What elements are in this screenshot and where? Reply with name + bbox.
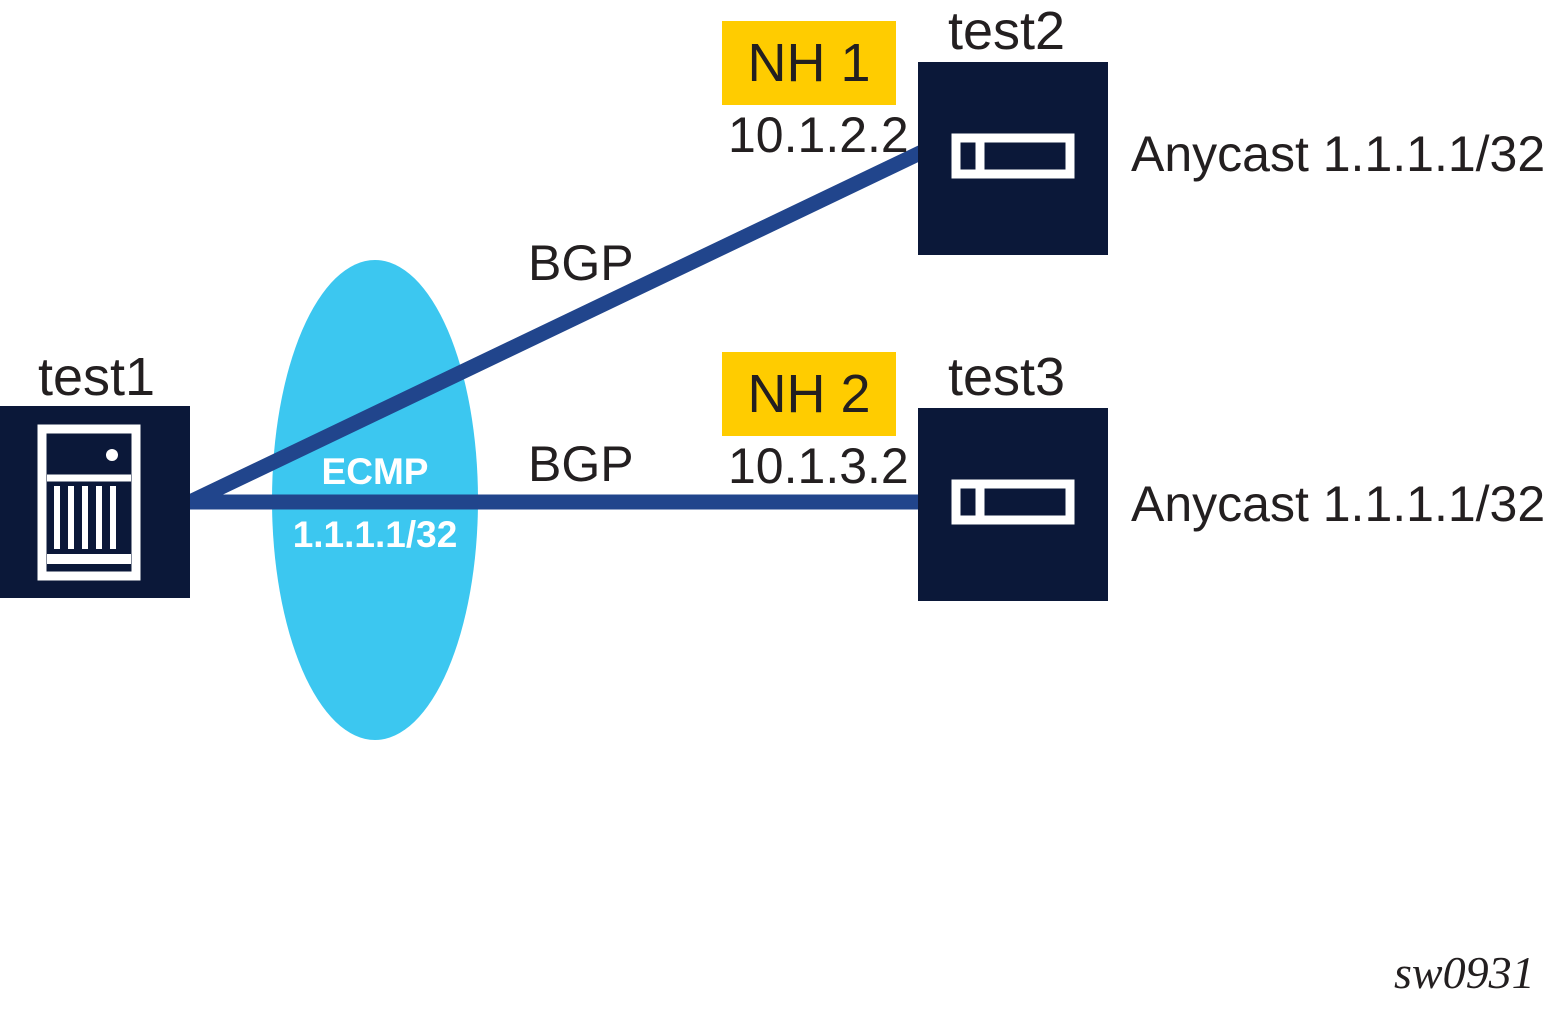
anycast-label-test3: Anycast 1.1.1.1/32 — [1131, 479, 1545, 529]
next-hop-ip-2: 10.1.3.2 — [728, 441, 909, 491]
link-label-bgp-test2: BGP — [528, 238, 634, 288]
next-hop-badge-2: NH 2 — [722, 352, 896, 436]
watermark-sw0931: sw0931 — [1394, 950, 1535, 996]
diagram-canvas: ECMP 1.1.1.1/32 test1 test2 Anycast 1.1. — [0, 0, 1549, 1011]
next-hop-ip-1: 10.1.2.2 — [728, 110, 909, 160]
anycast-label-test2: Anycast 1.1.1.1/32 — [1131, 129, 1545, 179]
node-box-test2[interactable] — [918, 62, 1108, 255]
ecmp-cloud-label-line2: 1.1.1.1/32 — [272, 515, 478, 555]
node-label-test2: test2 — [948, 4, 1065, 58]
switch-icon — [918, 408, 1108, 601]
node-box-test1[interactable] — [0, 406, 190, 598]
link-label-bgp-test3: BGP — [528, 439, 634, 489]
node-label-test1: test1 — [38, 350, 155, 404]
server-tower-icon — [0, 406, 190, 598]
node-label-test3: test3 — [948, 350, 1065, 404]
switch-icon — [918, 62, 1108, 255]
ecmp-cloud-label-line1: ECMP — [272, 452, 478, 492]
node-box-test3[interactable] — [918, 408, 1108, 601]
next-hop-badge-1: NH 1 — [722, 21, 896, 105]
